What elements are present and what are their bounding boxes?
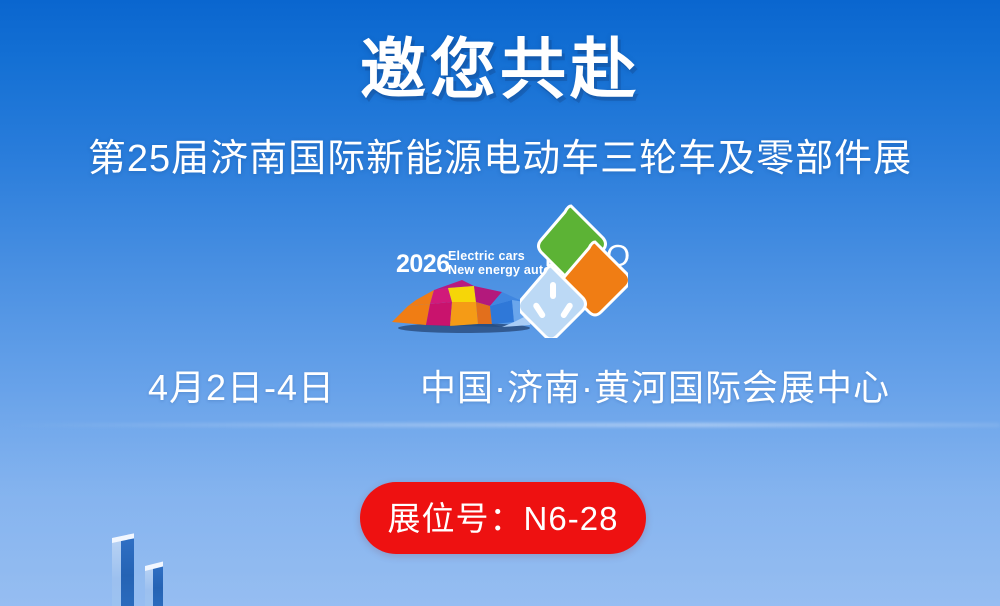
expo-logo-tagline-line1: Electric cars (448, 249, 525, 263)
event-venue: 中国·济南·黄河国际会展中心 (420, 366, 890, 410)
exhibition-invitation-poster: 邀您共赴 第25届济南国际新能源电动车三轮车及零部件展 2026 Electri… (0, 0, 1000, 606)
sky-light-streak (0, 423, 1000, 427)
page-title: 邀您共赴 (0, 36, 1000, 102)
low-poly-car-icon (390, 278, 538, 334)
event-info-row: 4月2日-4日 中国·济南·黄河国际会展中心 (0, 366, 1000, 414)
tower-tall-face-right (121, 538, 134, 606)
tower-short-face-right (153, 566, 163, 606)
tower-short-face-left (145, 566, 153, 606)
tower-short (145, 566, 163, 606)
tower-tall-face-left (112, 538, 121, 606)
booth-number-badge: 展位号：N6-28 (360, 482, 646, 554)
booth-number-label: 展位号：N6-28 (388, 502, 619, 535)
event-date: 4月2日-4日 (148, 366, 335, 410)
skyline-buildings (0, 496, 320, 606)
page-subtitle: 第25届济南国际新能源电动车三轮车及零部件展 (0, 138, 1000, 182)
tower-tall (112, 538, 134, 606)
expo-logo-diamond-cluster (520, 202, 628, 338)
expo-logo: 2026 Electric cars New energy automobile… (388, 200, 628, 340)
expo-logo-year: 2026 (396, 252, 450, 277)
